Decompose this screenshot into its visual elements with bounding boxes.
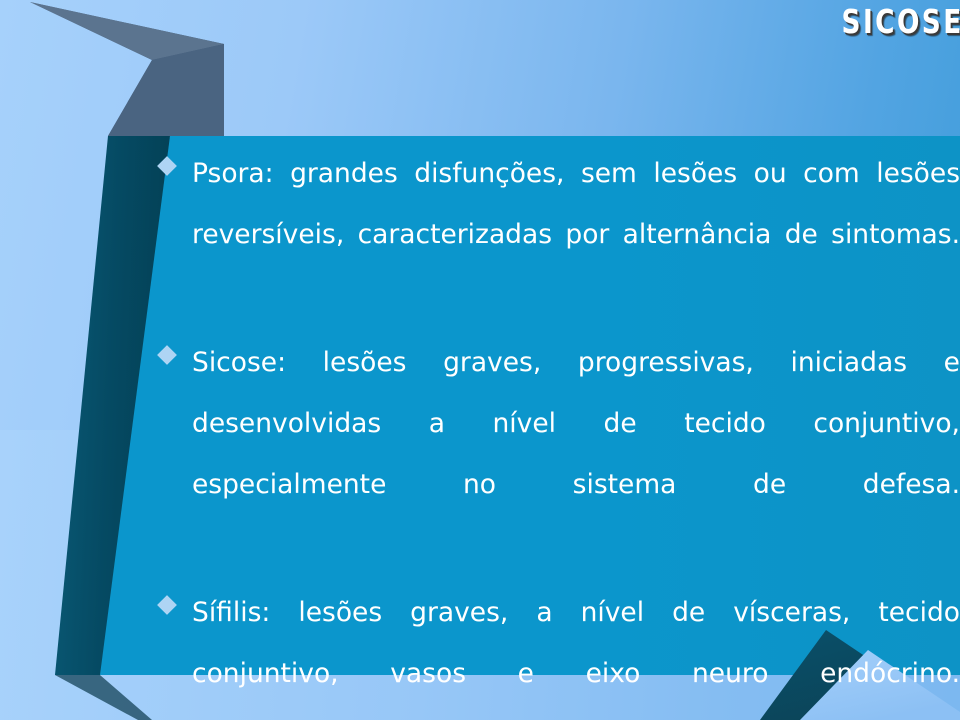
diamond-bullet-icon xyxy=(157,345,177,365)
list-item-text: Sicose: lesões graves, progressivas, ini… xyxy=(192,332,960,576)
list-item-text: Psora: grandes disfunções, sem lesões ou… xyxy=(192,143,960,326)
slide-title: SICOSE xyxy=(842,2,960,42)
slide-canvas: SICOSE Psora: grandes disfunções, sem le… xyxy=(0,0,960,720)
list-item-text: Sífilis: lesões graves, a nível de vísce… xyxy=(192,582,960,720)
panel-wedge-tail xyxy=(55,675,152,720)
list-item[interactable]: Psora: grandes disfunções, sem lesões ou… xyxy=(160,143,960,326)
diamond-bullet-icon xyxy=(157,156,177,176)
list-item[interactable]: Sicose: lesões graves, progressivas, ini… xyxy=(160,332,960,576)
bullet-list: Psora: grandes disfunções, sem lesões ou… xyxy=(160,143,960,720)
list-item[interactable]: Sífilis: lesões graves, a nível de vísce… xyxy=(160,582,960,720)
diamond-bullet-icon xyxy=(157,595,177,615)
top-left-chevron-body xyxy=(108,44,224,136)
